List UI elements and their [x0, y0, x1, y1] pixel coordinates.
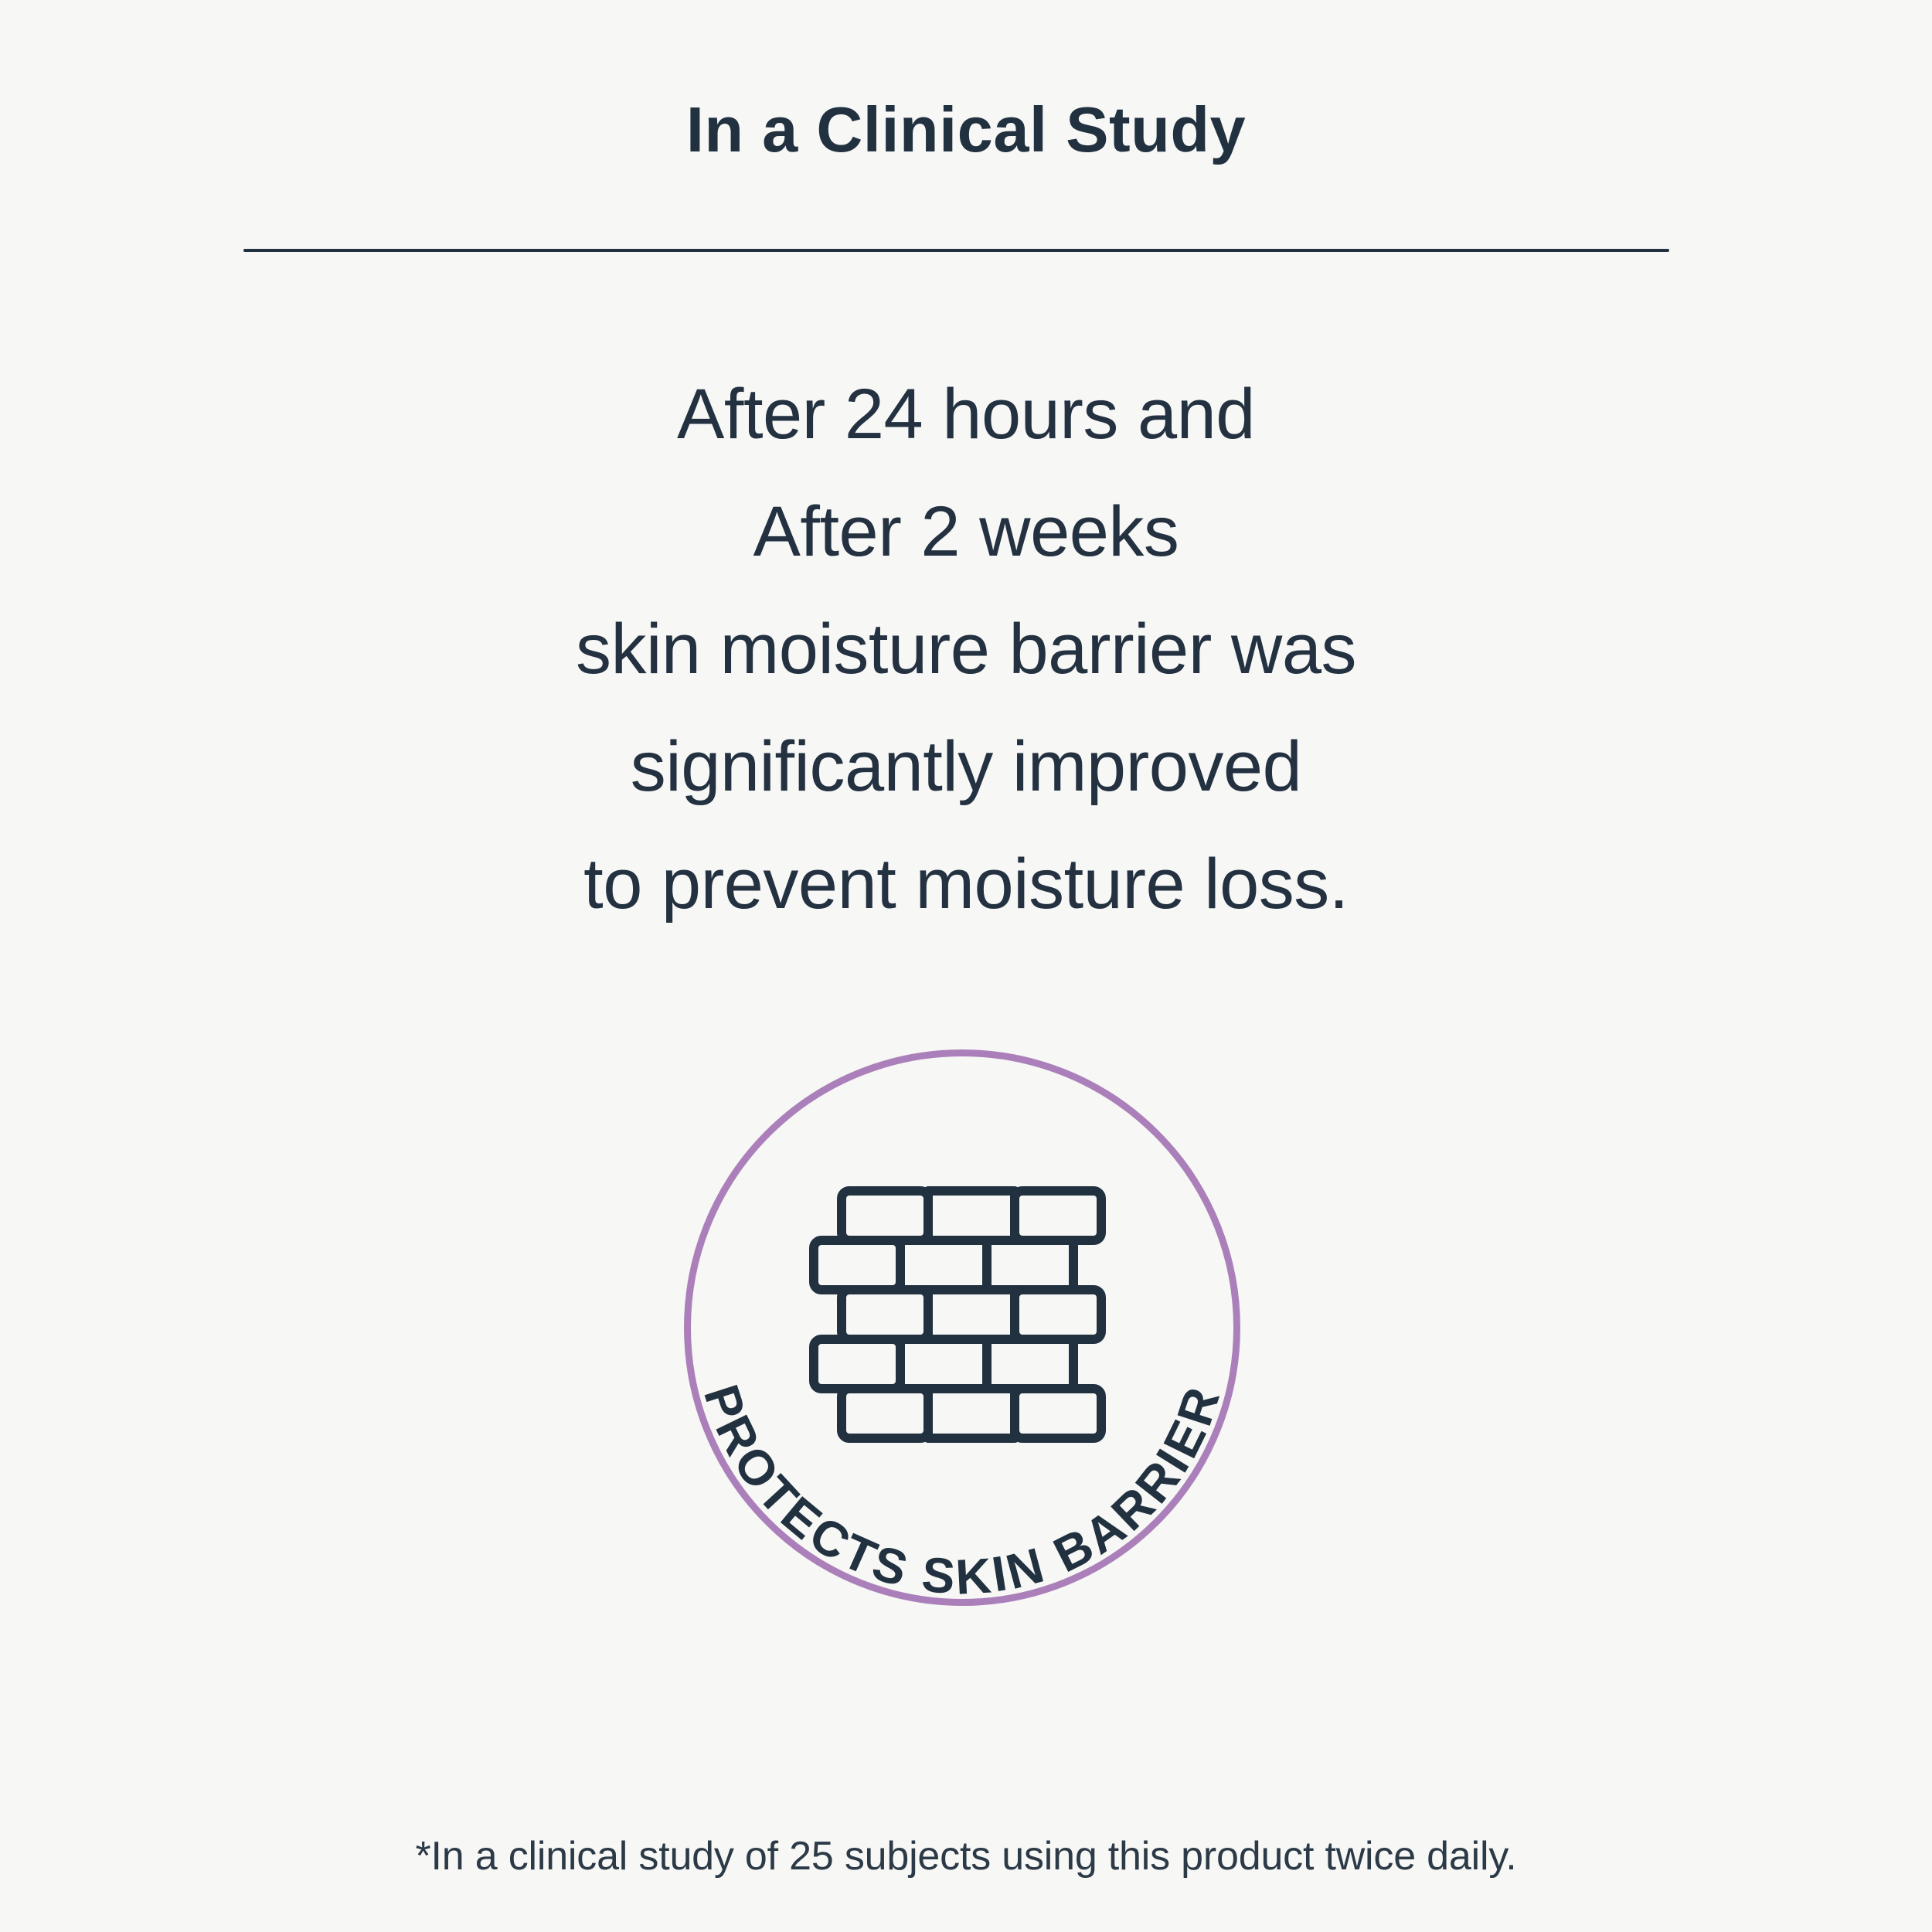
statement-line-3: skin moisture barrier was [0, 590, 1932, 708]
header-divider [243, 249, 1669, 252]
statement-line-1: After 24 hours and [0, 355, 1932, 473]
page-title: In a Clinical Study [0, 94, 1932, 165]
statement-line-5: to prevent moisture loss. [0, 825, 1932, 943]
clinical-study-card: In a Clinical Study After 24 hours and A… [0, 0, 1932, 1932]
protects-skin-barrier-badge [684, 1049, 1240, 1606]
footnote-disclaimer: *In a clinical study of 25 subjects usin… [0, 1833, 1932, 1879]
brick-wall-icon [808, 1185, 1117, 1471]
claim-statement: After 24 hours and After 2 weeks skin mo… [0, 355, 1932, 943]
statement-line-4: significantly improved [0, 708, 1932, 825]
statement-line-2: After 2 weeks [0, 473, 1932, 590]
